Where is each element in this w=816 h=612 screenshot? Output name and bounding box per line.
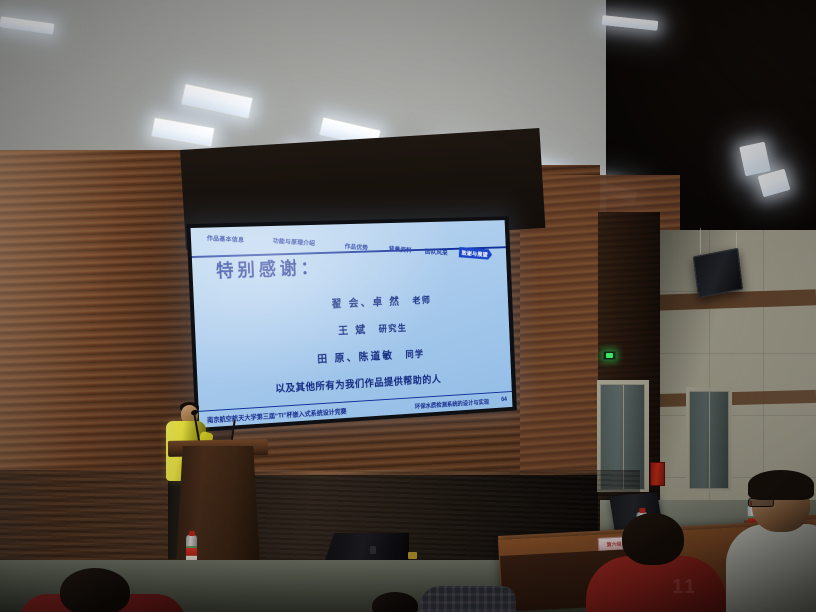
slide-tab-5[interactable]: 团队风采 <box>425 247 448 257</box>
thanks-line-2: 王 斌 研究生 <box>195 314 509 346</box>
seat-number-label: 11 <box>672 576 697 599</box>
slide-tab-6-active[interactable]: 致谢与展望 <box>459 247 493 260</box>
thanks-names-4: 以及其他所有为我们作品提供帮助的人 <box>275 375 441 396</box>
thanks-role-1: 老师 <box>412 295 431 305</box>
slide-tab-2[interactable]: 功能与原理介绍 <box>273 236 316 247</box>
speaker-wire-left <box>700 228 701 254</box>
slide-title: 特别感谢： <box>215 254 321 283</box>
slide-page-number: 64 <box>501 397 507 403</box>
bottle-cap <box>189 531 195 536</box>
thanks-names-1: 翟 会、卓 然 <box>331 296 401 310</box>
speaker-grill-icon <box>370 546 376 554</box>
eyeglasses-icon <box>748 498 774 507</box>
fire-extinguisher-box <box>650 462 665 486</box>
slide-footer-right: 环保水质检测系统的设计与实现 <box>415 397 490 410</box>
bottle-cap <box>639 508 645 513</box>
exit-sign-icon <box>603 351 616 360</box>
audience-plaid-shoulder <box>420 586 516 612</box>
judge-grey-shirt-hair <box>748 470 814 500</box>
ceiling-hung-speaker <box>693 248 743 298</box>
slide-tab-1[interactable]: 作品基本信息 <box>207 233 245 244</box>
audience-front-left-head <box>60 568 130 612</box>
thanks-names-2: 王 斌 <box>338 324 367 337</box>
slide-tab-4[interactable]: 背景资料 <box>389 244 413 254</box>
projection-screen: 作品基本信息 功能与原理介绍 作品优势 背景资料 团队风采 致谢与展望 特别感谢… <box>191 220 513 428</box>
presentation-slide: 作品基本信息 功能与原理介绍 作品优势 背景资料 团队风采 致谢与展望 特别感谢… <box>191 220 513 428</box>
thanks-names-3: 田 原、陈道敏 <box>317 350 394 366</box>
thanks-role-2: 研究生 <box>379 323 408 334</box>
thanks-line-1: 翟 会、卓 然 老师 <box>194 287 508 318</box>
judge-grey-shirt-body <box>726 524 816 612</box>
exit-door-right[interactable] <box>689 391 729 489</box>
judge-red-shirt-head <box>622 513 684 565</box>
audience-front-center-head <box>372 592 418 612</box>
door-split-right <box>709 392 710 488</box>
speaker-cable-plug <box>408 552 417 559</box>
auditorium-scene: 作品基本信息 功能与原理介绍 作品优势 背景资料 团队风采 致谢与展望 特别感谢… <box>0 0 816 612</box>
thanks-role-3: 同学 <box>405 349 424 360</box>
slide-tab-3[interactable]: 作品优势 <box>344 241 368 251</box>
